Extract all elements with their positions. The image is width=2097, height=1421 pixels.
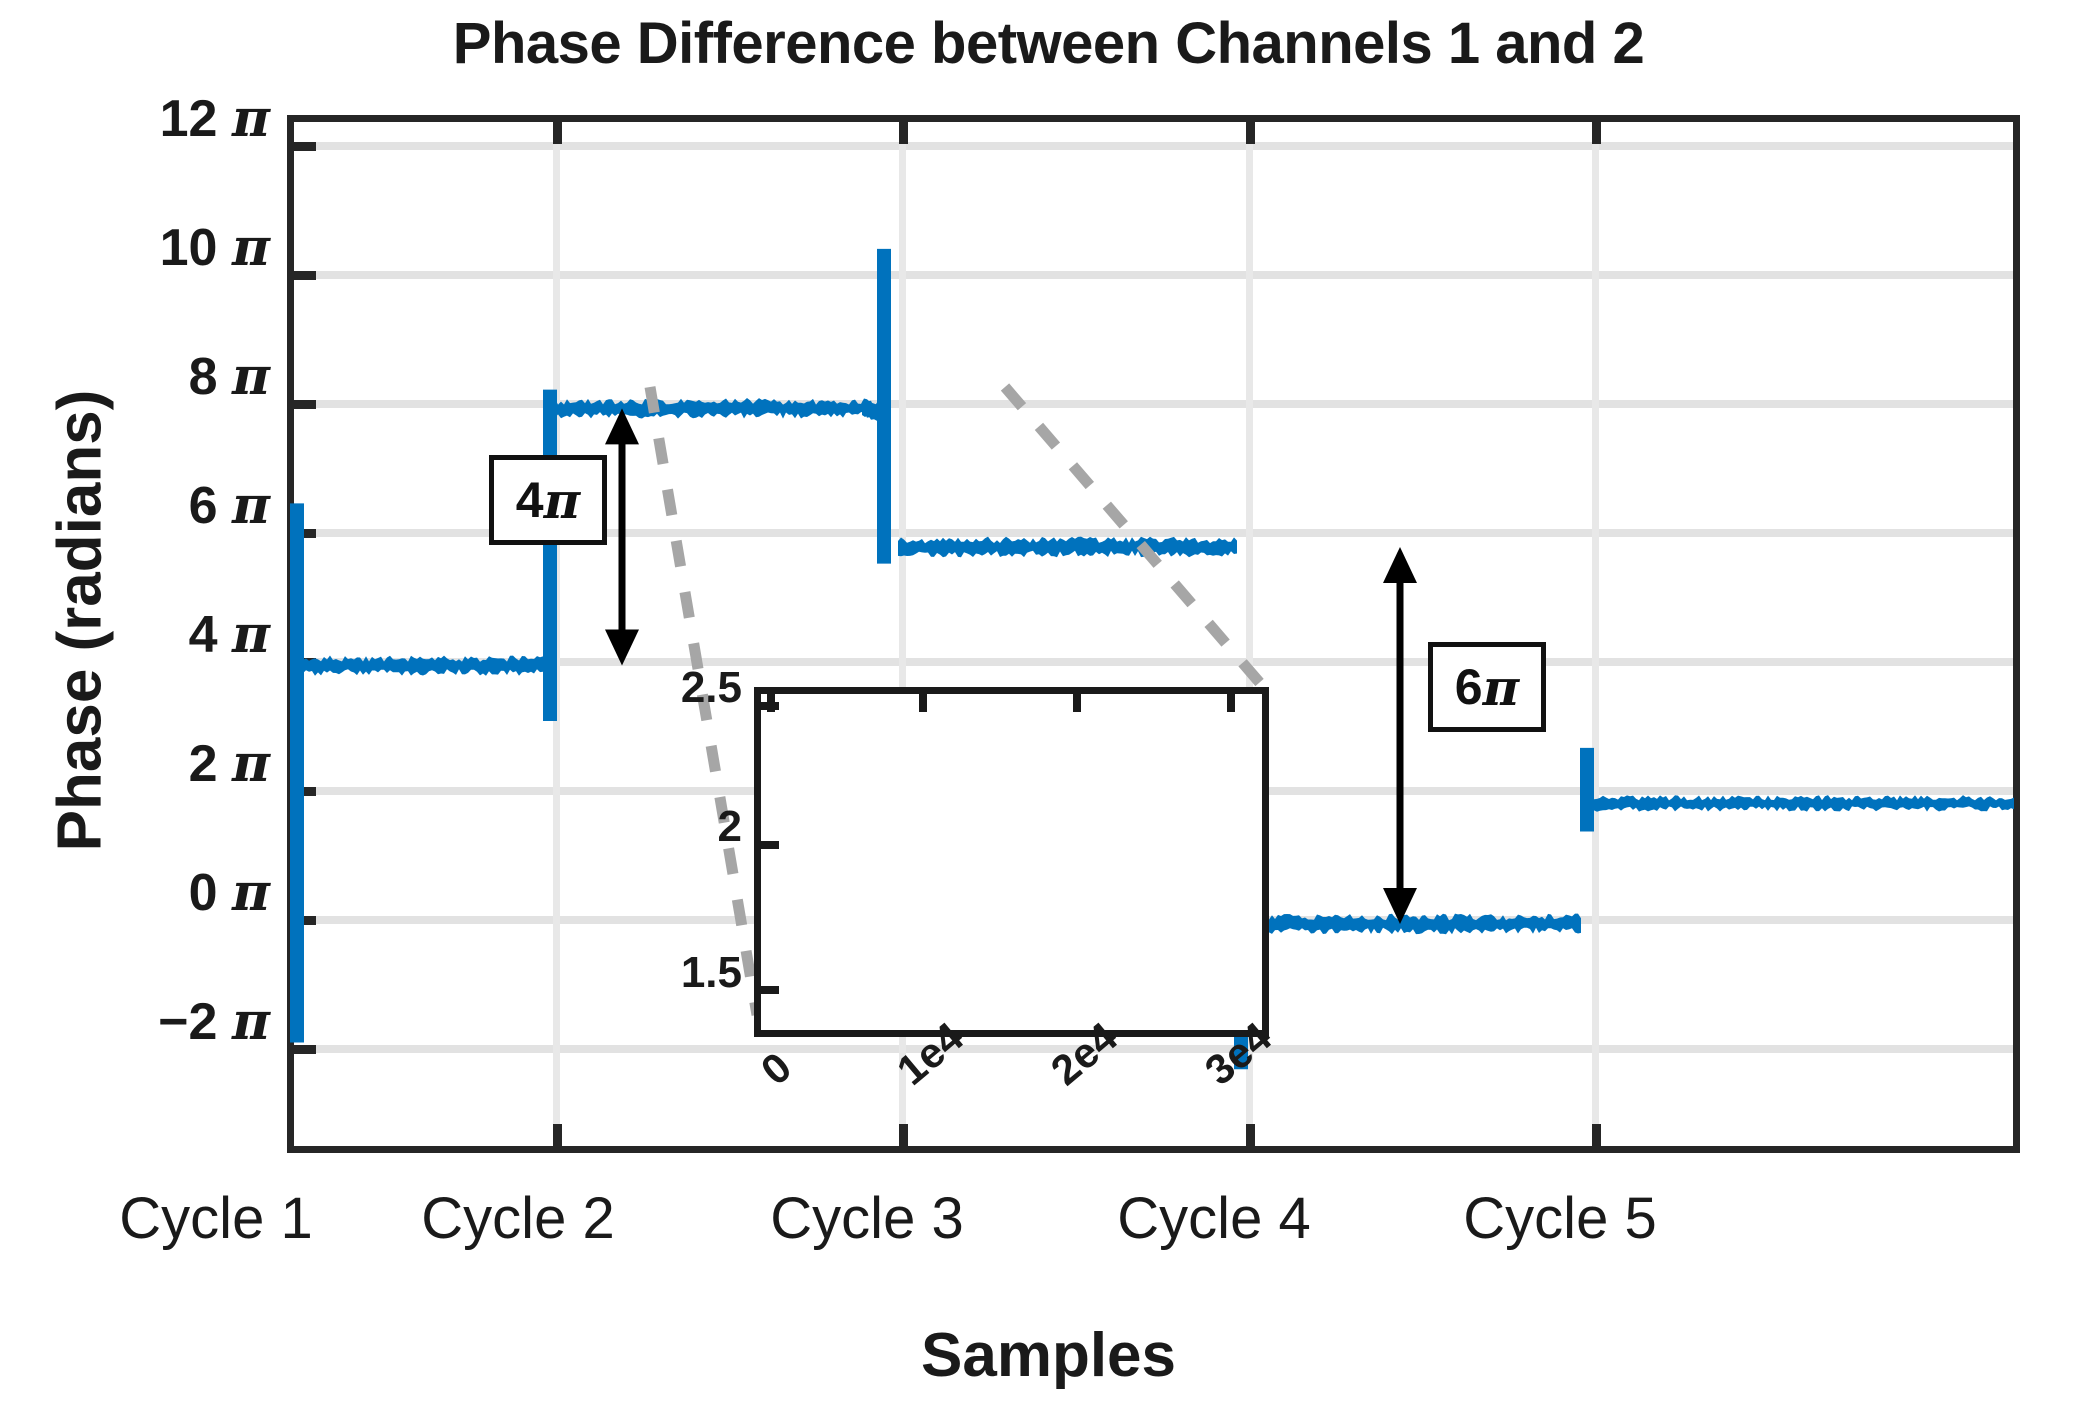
y-tick-value: 6 <box>189 477 218 535</box>
annotation-4pi-value: 4 <box>516 471 544 529</box>
gridline-cycle-1-2 <box>553 122 560 1146</box>
inset-plot-area <box>754 687 1269 1037</box>
pi-symbol: π <box>232 88 270 149</box>
pi-symbol: π <box>1483 658 1520 717</box>
x-cycle-label-4: Cycle 4 <box>1014 1185 1414 1252</box>
inset-y-tick-label-2: 2 <box>612 802 742 852</box>
gridline-4pi <box>294 658 2013 666</box>
x-cycle-label-3: Cycle 3 <box>667 1185 1067 1252</box>
annotation-6pi-value: 6 <box>1455 658 1483 716</box>
inset-x-tickmark-0 <box>767 694 775 712</box>
y-tick-value: 10 <box>160 219 218 277</box>
x-tickmark-top-1 <box>553 122 562 144</box>
x-cycle-label-5: Cycle 5 <box>1360 1185 1760 1252</box>
gridline-cycle-4-5 <box>1592 122 1599 1146</box>
pi-symbol: π <box>232 217 270 278</box>
y-tick-value: 8 <box>189 348 218 406</box>
y-tickmark-2pi <box>294 787 316 796</box>
annotation-box-6pi: 6π <box>1428 642 1546 732</box>
chart-figure: Phase Difference between Channels 1 and … <box>0 0 2097 1421</box>
x-tickmark-top-2 <box>899 122 908 144</box>
x-tickmark-bottom-2 <box>899 1124 908 1146</box>
inset-y-tickmark-2 <box>761 841 779 849</box>
x-tickmark-bottom-4 <box>1592 1124 1601 1146</box>
y-tick-value: 4 <box>189 606 218 664</box>
x-cycle-label-2: Cycle 2 <box>318 1185 718 1252</box>
pi-symbol: π <box>232 475 270 536</box>
gridline-minus2pi <box>294 1045 2013 1053</box>
y-tickmark-4pi <box>294 658 316 667</box>
x-tickmark-bottom-3 <box>1246 1124 1255 1146</box>
y-tick-value: −2 <box>158 993 217 1051</box>
inset-y-tick-label-2-5: 2.5 <box>612 663 742 713</box>
y-tick-value: 2 <box>189 735 218 793</box>
chart-title: Phase Difference between Channels 1 and … <box>0 10 2097 77</box>
gridline-12pi <box>294 142 2013 150</box>
inset-x-tickmark-3e4 <box>1227 694 1235 712</box>
x-tickmark-top-3 <box>1246 122 1255 144</box>
y-tickmark-12pi <box>294 142 316 151</box>
pi-symbol: π <box>544 471 581 530</box>
inset-y-tickmark-1-5 <box>761 986 779 994</box>
y-tickmark-0pi <box>294 916 316 925</box>
inset-x-tickmark-2e4 <box>1073 694 1081 712</box>
pi-symbol: π <box>232 346 270 407</box>
y-tick-value: 12 <box>160 90 218 148</box>
x-tickmark-bottom-1 <box>553 1124 562 1146</box>
annotation-box-4pi: 4π <box>489 455 607 545</box>
inset-x-tickmark-1e4 <box>919 694 927 712</box>
inset-y-tick-label-1-5: 1.5 <box>612 948 742 998</box>
pi-symbol: π <box>232 991 270 1052</box>
y-tick-label-12pi: 12 π <box>30 88 270 149</box>
y-tickmark-10pi <box>294 271 316 280</box>
gridline-10pi <box>294 271 2013 279</box>
gridline-8pi <box>294 400 2013 408</box>
y-tick-value: 0 <box>189 864 218 922</box>
pi-symbol: π <box>232 733 270 794</box>
x-tickmark-top-4 <box>1592 122 1601 144</box>
x-axis-title: Samples <box>0 1320 2097 1391</box>
y-axis-title: Phase (radians) <box>45 241 116 1001</box>
pi-symbol: π <box>232 862 270 923</box>
y-tickmark-8pi <box>294 400 316 409</box>
pi-symbol: π <box>232 604 270 665</box>
y-tickmark-6pi <box>294 529 316 538</box>
y-tickmark-minus2pi <box>294 1045 316 1054</box>
